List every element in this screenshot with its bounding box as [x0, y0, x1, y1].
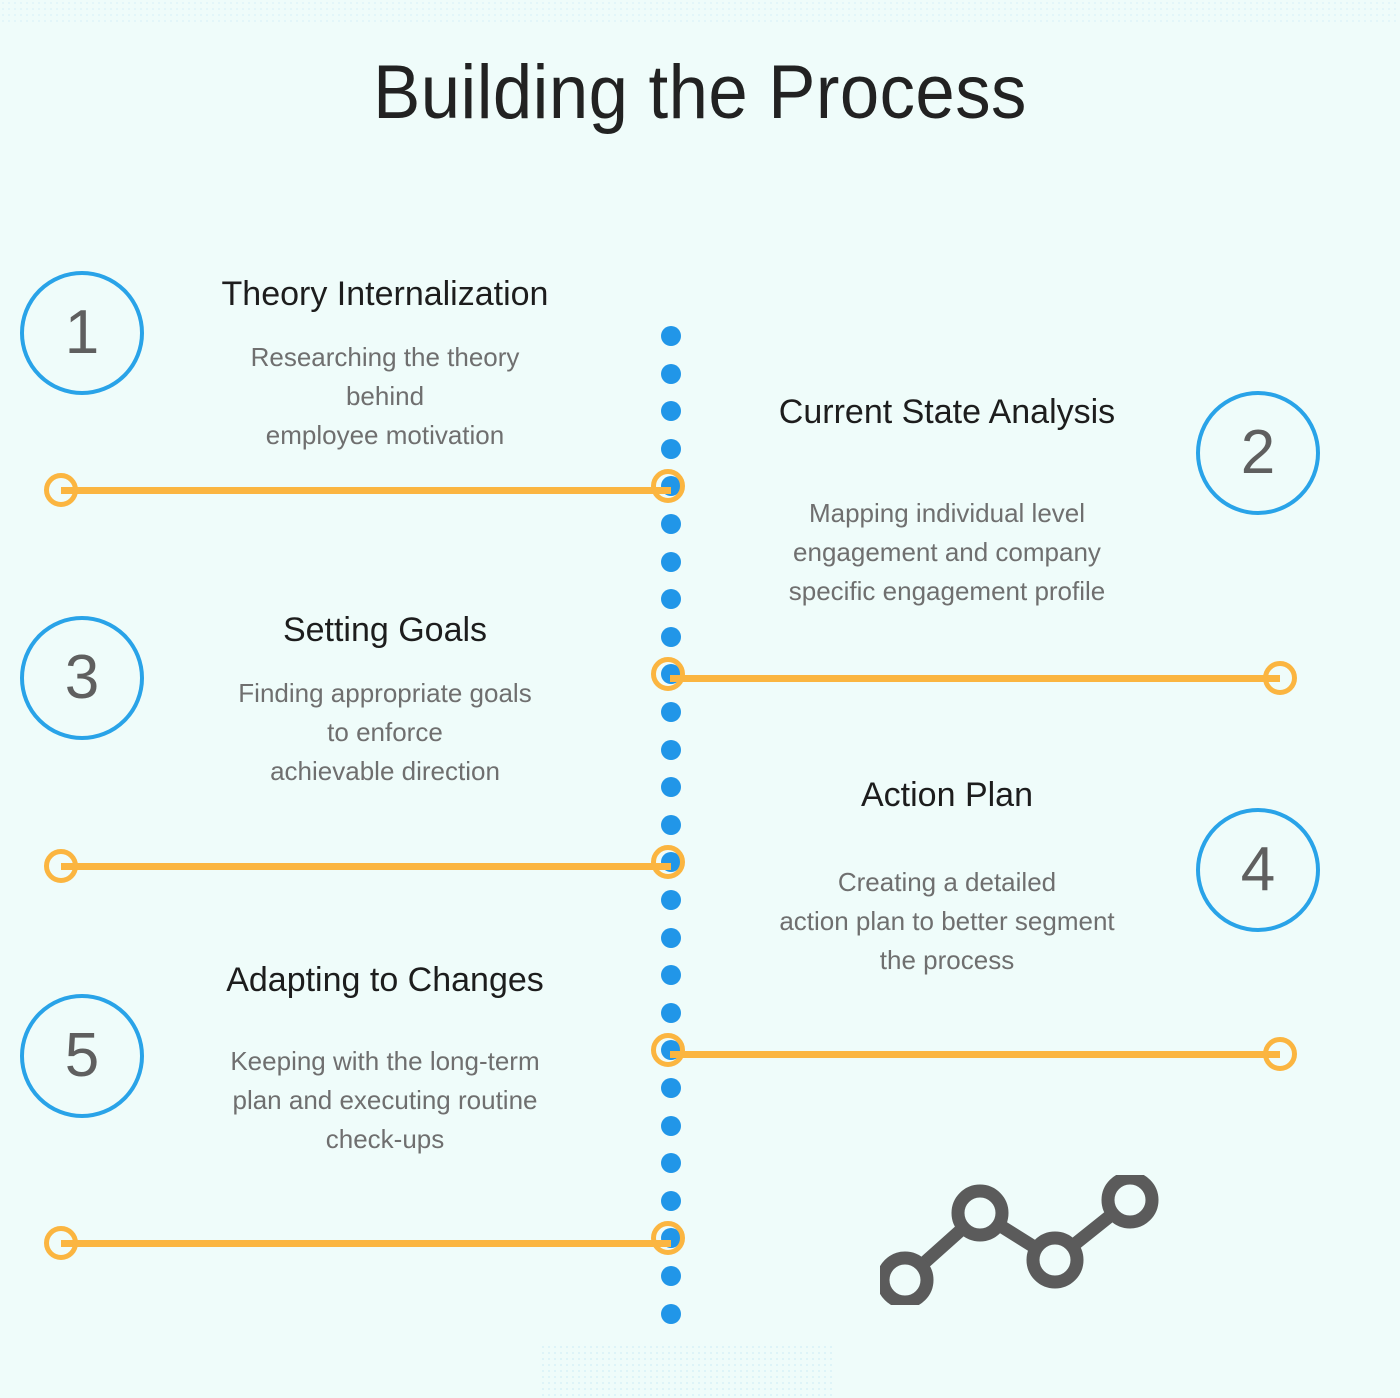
step-description-line: Keeping with the long-term [160, 1042, 610, 1081]
step-title-3: Setting Goals [160, 608, 610, 652]
step-description-5: Keeping with the long-term plan and exec… [160, 1042, 610, 1159]
step-number-badge-2[interactable]: 2 [1196, 391, 1320, 515]
timeline-dot [661, 1304, 681, 1324]
step-number-3: 3 [65, 647, 99, 709]
timeline-dot [661, 702, 681, 722]
connector-endpoint [1263, 1037, 1297, 1071]
timeline-dot [661, 514, 681, 534]
connector-step-2 [654, 661, 1297, 695]
timeline-dot [661, 364, 681, 384]
step-description-line: to enforce [160, 713, 610, 752]
timeline-dot [661, 589, 681, 609]
timeline-dot [661, 1116, 681, 1136]
step-block-3: Setting Goals Finding appropriate goals … [160, 608, 610, 791]
top-dotted-texture [0, 0, 1400, 26]
timeline-dot [661, 1153, 681, 1173]
step-description-line: Creating a detailed [722, 863, 1172, 902]
step-title-4: Action Plan [722, 773, 1172, 817]
timeline-dot [661, 326, 681, 346]
step-description-3: Finding appropriate goals to enforce ach… [160, 674, 610, 791]
step-description-line: plan and executing routine [160, 1081, 610, 1120]
step-description-4: Creating a detailed action plan to bette… [722, 863, 1172, 980]
timeline-dot [661, 1078, 681, 1098]
connector-step-5 [44, 1226, 688, 1260]
timeline-dot [661, 439, 681, 459]
timeline-dot [661, 401, 681, 421]
step-number-badge-4[interactable]: 4 [1196, 808, 1320, 932]
timeline-dot [661, 777, 681, 797]
step-description-line: check-ups [160, 1120, 610, 1159]
timeline-dot [661, 1266, 681, 1286]
step-block-5: Adapting to Changes Keeping with the lon… [160, 958, 610, 1159]
step-description-line: Finding appropriate goals [160, 674, 610, 713]
step-number-badge-1[interactable]: 1 [20, 271, 144, 395]
connector-bar [61, 863, 671, 870]
timeline-dot [661, 552, 681, 572]
step-description-line: Researching the theory [160, 338, 610, 377]
step-number-5: 5 [65, 1025, 99, 1087]
connector-bar [61, 487, 671, 494]
bottom-dotted-texture [540, 1344, 835, 1398]
step-block-1: Theory Internalization Researching the t… [160, 272, 610, 455]
step-number-2: 2 [1241, 422, 1275, 484]
connector-bar [670, 1051, 1280, 1058]
step-title-2: Current State Analysis [722, 390, 1172, 434]
step-number-badge-3[interactable]: 3 [20, 616, 144, 740]
connector-endpoint [44, 849, 78, 883]
step-description-line: engagement and company [722, 533, 1172, 572]
step-description-2: Mapping individual level engagement and … [722, 494, 1172, 611]
step-description-line: the process [722, 941, 1172, 980]
step-description-line: specific engagement profile [722, 572, 1172, 611]
timeline-dot [661, 627, 681, 647]
connector-step-4 [654, 1037, 1297, 1071]
step-title-5: Adapting to Changes [160, 958, 610, 1002]
connector-endpoint [44, 473, 78, 507]
timeline-dot [661, 965, 681, 985]
connector-endpoint [1263, 661, 1297, 695]
connector-endpoint [44, 1226, 78, 1260]
step-title-1: Theory Internalization [160, 272, 610, 316]
timeline-dot [661, 1191, 681, 1211]
step-description-1: Researching the theory behind employee m… [160, 338, 610, 455]
timeline-dot [661, 928, 681, 948]
step-description-line: behind [160, 377, 610, 416]
line-chart-icon [880, 1175, 1180, 1305]
timeline-dot [661, 815, 681, 835]
step-block-2: Current State Analysis Mapping individua… [722, 390, 1172, 611]
connector-step-1 [44, 473, 688, 507]
step-description-line: achievable direction [160, 752, 610, 791]
connector-bar [61, 1240, 671, 1247]
step-number-1: 1 [65, 302, 99, 364]
connector-bar [670, 675, 1280, 682]
timeline-dot [661, 740, 681, 760]
timeline-dot [661, 1003, 681, 1023]
timeline-dot [661, 890, 681, 910]
step-description-line: Mapping individual level [722, 494, 1172, 533]
step-block-4: Action Plan Creating a detailed action p… [722, 773, 1172, 980]
page-title: Building the Process [49, 48, 1351, 138]
step-description-line: action plan to better segment [722, 902, 1172, 941]
connector-step-3 [44, 849, 688, 883]
step-description-line: employee motivation [160, 416, 610, 455]
step-number-badge-5[interactable]: 5 [20, 994, 144, 1118]
step-number-4: 4 [1241, 839, 1275, 901]
